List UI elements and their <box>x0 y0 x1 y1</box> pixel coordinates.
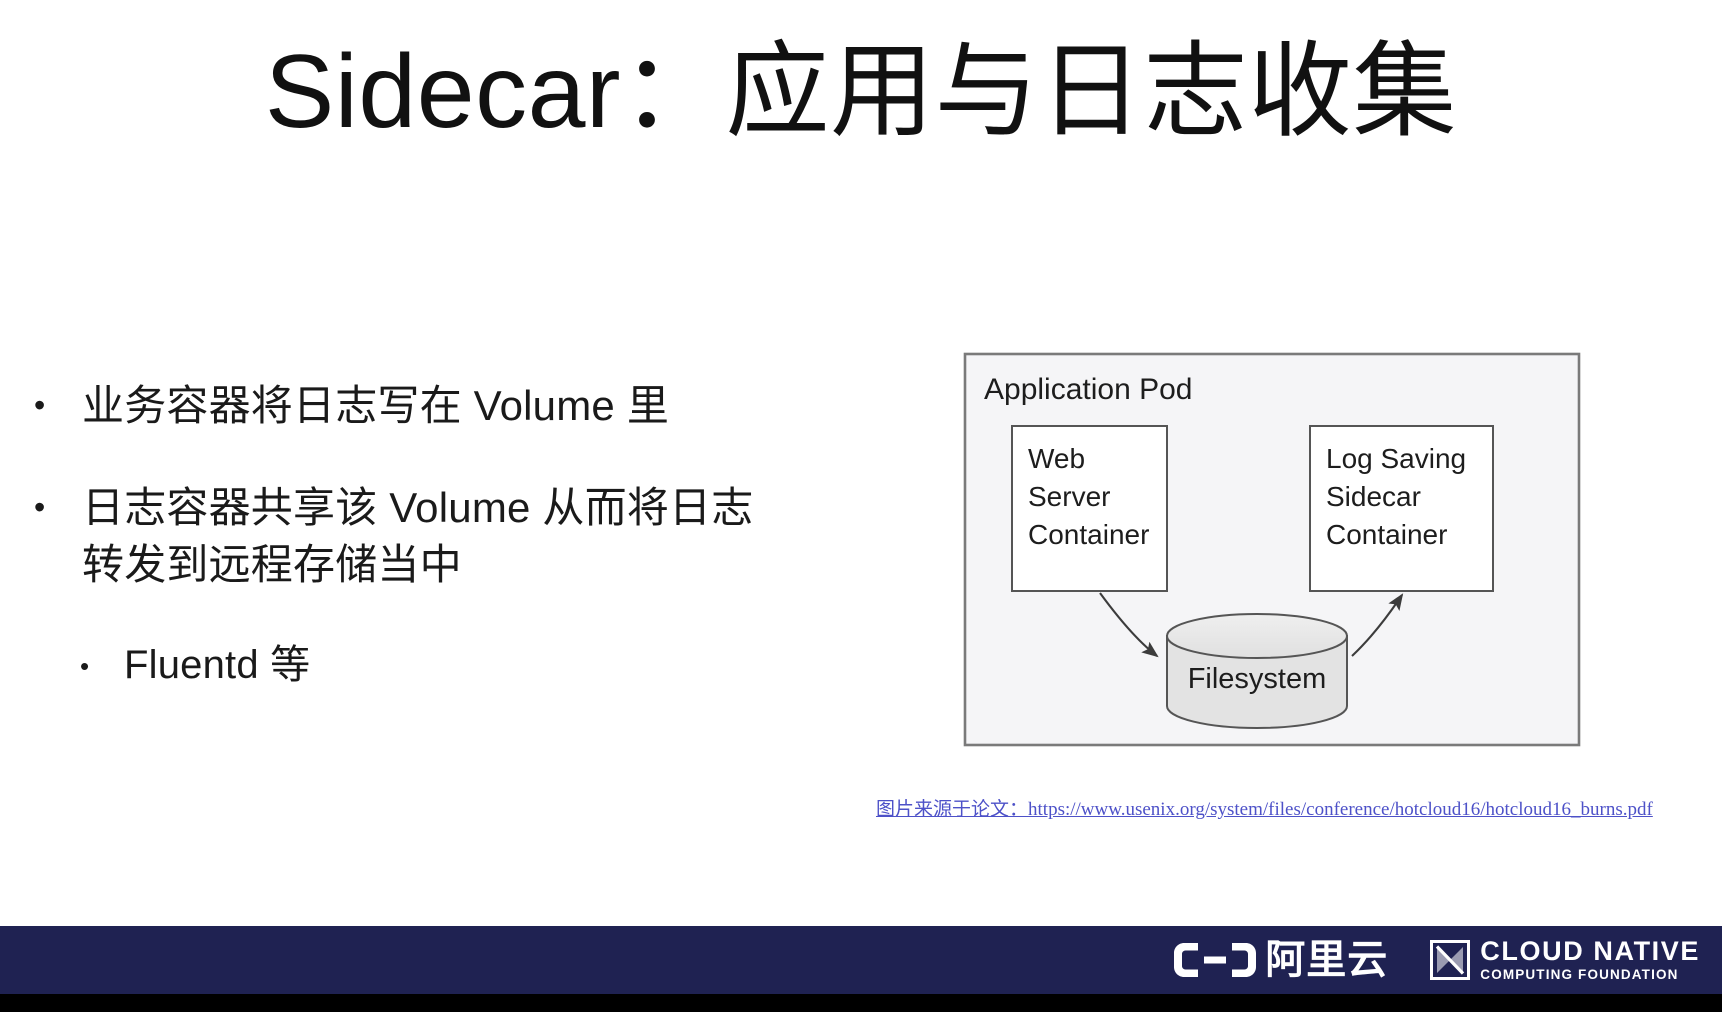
bullet-item-2: • 日志容器共享该 Volume 从而将日志 转发到远程存储当中 <box>28 480 818 593</box>
bullet-marker-icon: • <box>28 378 82 433</box>
aliyun-logo: 阿里云 <box>1174 936 1388 984</box>
cncf-wordmark-line-1: CLOUD NATIVE <box>1480 938 1700 965</box>
diagram-svg: Application Pod Web Server Container Log… <box>962 351 1582 748</box>
footer-logos: 阿里云 CLOUD NATIVE COMPUTING FOUNDATION <box>1174 932 1700 988</box>
application-pod-label: Application Pod <box>984 373 1192 406</box>
web-server-container-label: Server <box>1028 481 1110 512</box>
footer-black-strip <box>0 994 1722 1012</box>
bullet-list: • 业务容器将日志写在 Volume 里 • 日志容器共享该 Volume 从而… <box>28 378 818 693</box>
bullet-item-1: • 业务容器将日志写在 Volume 里 <box>28 378 818 434</box>
filesystem-cylinder: Filesystem <box>1167 614 1347 728</box>
bullet-item-3: • Fluentd 等 <box>74 639 818 694</box>
application-pod-diagram: Application Pod Web Server Container Log… <box>962 351 1582 748</box>
web-server-container-label: Container <box>1028 519 1149 550</box>
cncf-helm-mark-icon <box>1430 940 1470 980</box>
filesystem-label: Filesystem <box>1188 663 1327 695</box>
bullet-item-3-text: Fluentd 等 <box>124 639 818 693</box>
cncf-wordmark-line-2: COMPUTING FOUNDATION <box>1480 968 1700 982</box>
web-server-container-label: Web <box>1028 443 1085 474</box>
log-sidecar-container-label: Sidecar <box>1326 481 1421 512</box>
aliyun-bracket-mark-icon <box>1174 940 1256 980</box>
cncf-wordmark: CLOUD NATIVE COMPUTING FOUNDATION <box>1480 938 1700 982</box>
page-title: Sidecar：应用与日志收集 <box>0 34 1722 150</box>
log-sidecar-container-label: Container <box>1326 519 1447 550</box>
bullet-marker-icon: • <box>74 639 124 694</box>
slide-canvas: Sidecar：应用与日志收集 • 业务容器将日志写在 Volume 里 • 日… <box>0 0 1722 1012</box>
figure-credit: 图片来源于论文：https://www.usenix.org/system/fi… <box>876 798 1676 822</box>
bullet-item-2-line-1: 日志容器共享该 Volume 从而将日志 <box>82 480 818 536</box>
log-sidecar-container-label: Log Saving <box>1326 443 1466 474</box>
bullet-item-2-line-2: 转发到远程存储当中 <box>82 537 818 593</box>
figure-credit-prefix: 图片来源于论文： <box>876 799 1028 820</box>
bullet-item-2-text: 日志容器共享该 Volume 从而将日志 转发到远程存储当中 <box>82 480 818 593</box>
figure-credit-link[interactable]: https://www.usenix.org/system/files/conf… <box>1028 799 1653 820</box>
bullet-item-1-text: 业务容器将日志写在 Volume 里 <box>82 378 818 434</box>
bullet-marker-icon: • <box>28 480 82 535</box>
cncf-logo: CLOUD NATIVE COMPUTING FOUNDATION <box>1430 936 1700 984</box>
aliyun-wordmark: 阿里云 <box>1265 940 1388 980</box>
